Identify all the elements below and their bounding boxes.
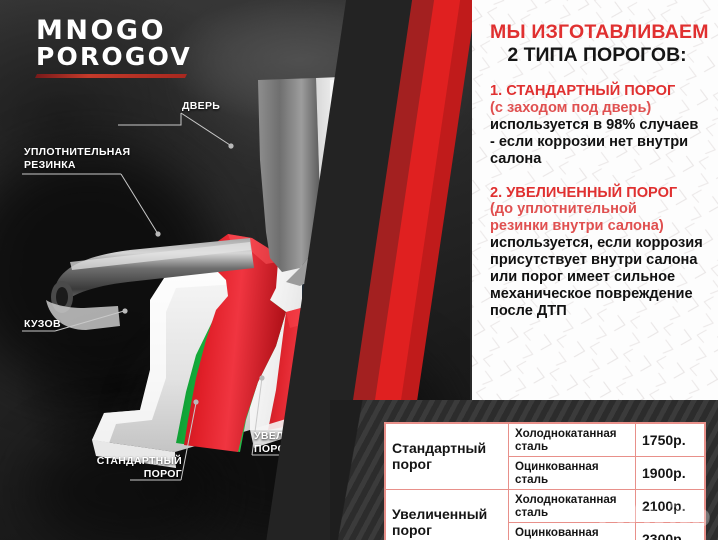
cell-type-standard: Стандартный порог <box>385 423 509 490</box>
callout-door-label: ДВЕРЬ <box>182 100 220 113</box>
brand-logo: MNOGO POROGOV <box>36 18 196 78</box>
cell-material: Оцинкованная сталь <box>509 523 636 540</box>
block-enlarged-subtitle-line1: (до уплотнительной <box>490 201 704 218</box>
panel-block-standard: 1. СТАНДАРТНЫЙ ПОРОГ (с заходом под двер… <box>490 83 704 168</box>
cell-price: 2100р. <box>636 490 706 523</box>
cell-price: 2300р. <box>636 523 706 540</box>
cell-price: 1750р. <box>636 423 706 457</box>
panel-headline-black: 2 ТИПА ПОРОГОВ: <box>490 45 704 65</box>
logo-line-porogov: POROGOV <box>36 45 196 70</box>
logo-underline-bar <box>35 74 187 78</box>
logo-line-mnogo: MNOGO <box>36 18 196 44</box>
cell-material: Холоднокатанная сталь <box>509 490 636 523</box>
price-table: Стандартный порог Холоднокатанная сталь … <box>384 422 706 540</box>
table-row: Стандартный порог Холоднокатанная сталь … <box>385 423 705 457</box>
block-standard-subtitle: (с заходом под дверь) <box>490 100 704 117</box>
panel-block-enlarged: 2. УВЕЛИЧЕННЫЙ ПОРОГ (до уплотнительной … <box>490 185 704 320</box>
callout-rubber-label: УПЛОТНИТЕЛЬНАЯ РЕЗИНКА <box>24 146 130 172</box>
block-enlarged-body: используется, если коррозия присутствует… <box>490 235 704 320</box>
callout-body-label: КУЗОВ <box>24 318 61 331</box>
cell-type-enlarged: Увеличенный порог <box>385 490 509 540</box>
cell-price: 1900р. <box>636 457 706 490</box>
callout-body-text: КУЗОВ <box>24 318 61 330</box>
callout-rubber-line2: РЕЗИНКА <box>24 159 130 172</box>
block-standard-title: 1. СТАНДАРТНЫЙ ПОРОГ <box>490 83 704 100</box>
callout-door-text: ДВЕРЬ <box>182 100 220 112</box>
block-standard-body: используется в 98% случаев - если корроз… <box>490 117 704 168</box>
cell-material: Оцинкованная сталь <box>509 457 636 490</box>
block-enlarged-title: 2. УВЕЛИЧЕННЫЙ ПОРОГ <box>490 185 704 202</box>
panel-headline-red: МЫ ИЗГОТАВЛИВАЕМ <box>490 22 704 42</box>
callout-rubber-line1: УПЛОТНИТЕЛЬНАЯ <box>24 146 130 159</box>
striped-band-mask <box>330 400 390 540</box>
cell-material: Холоднокатанная сталь <box>509 423 636 457</box>
block-enlarged-subtitle-line2: резинки внутри салона) <box>490 218 704 235</box>
callout-standard-line2: ПОРОГ <box>86 468 182 481</box>
callout-standard-line1: СТАНДАРТНЫЙ <box>86 455 182 468</box>
callout-standard-label: СТАНДАРТНЫЙ ПОРОГ <box>86 455 182 481</box>
table-row: Увеличенный порог Холоднокатанная сталь … <box>385 490 705 523</box>
advertisement-banner: ДВЕРЬ УПЛОТНИТЕЛЬНАЯ РЕЗИНКА КУЗОВ СТАНД… <box>0 0 718 540</box>
